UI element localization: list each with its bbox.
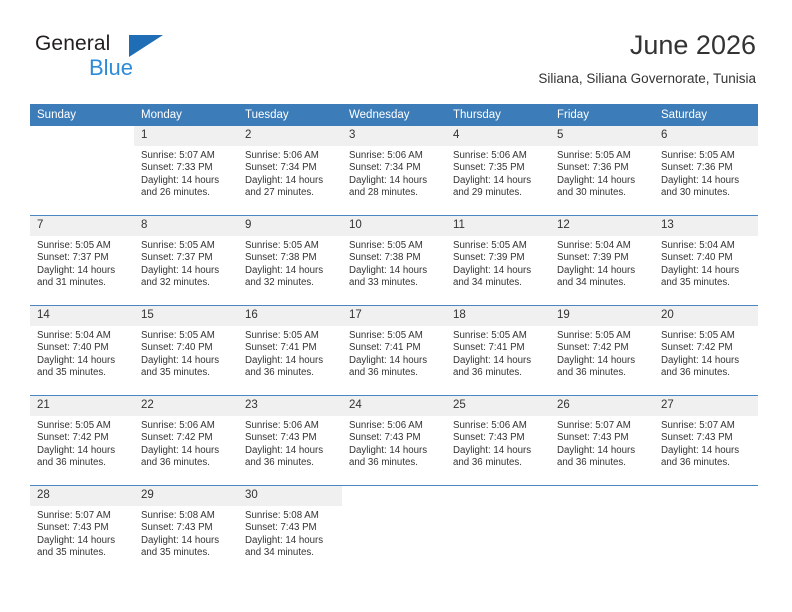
day-cell[interactable]: 20 Sunrise: 5:05 AM Sunset: 7:42 PM Dayl…	[654, 306, 758, 396]
daylight-text-line2: and 36 minutes.	[349, 367, 440, 379]
day-cell[interactable]: 8 Sunrise: 5:05 AM Sunset: 7:37 PM Dayli…	[134, 216, 238, 306]
day-cell[interactable]: 28 Sunrise: 5:07 AM Sunset: 7:43 PM Dayl…	[30, 486, 134, 576]
weekday-header-monday: Monday	[134, 104, 238, 126]
title-block: June 2026 Siliana, Siliana Governorate, …	[538, 28, 756, 89]
daylight-text-line2: and 30 minutes.	[557, 187, 648, 199]
day-cell[interactable]: 3 Sunrise: 5:06 AM Sunset: 7:34 PM Dayli…	[342, 126, 446, 216]
day-info: Sunrise: 5:04 AM Sunset: 7:39 PM Dayligh…	[550, 236, 654, 290]
daylight-text-line1: Daylight: 14 hours	[661, 265, 752, 277]
daylight-text-line2: and 29 minutes.	[453, 187, 544, 199]
calendar-table: Sunday Monday Tuesday Wednesday Thursday…	[30, 104, 758, 575]
sunrise-text: Sunrise: 5:07 AM	[557, 420, 648, 432]
sunrise-text: Sunrise: 5:05 AM	[557, 330, 648, 342]
day-info: Sunrise: 5:05 AM Sunset: 7:41 PM Dayligh…	[446, 326, 550, 380]
daylight-text-line1: Daylight: 14 hours	[141, 535, 232, 547]
day-number: 19	[550, 306, 654, 326]
weekday-header-friday: Friday	[550, 104, 654, 126]
week-row: 21 Sunrise: 5:05 AM Sunset: 7:42 PM Dayl…	[30, 396, 758, 486]
day-cell[interactable]: 27 Sunrise: 5:07 AM Sunset: 7:43 PM Dayl…	[654, 396, 758, 486]
daylight-text-line1: Daylight: 14 hours	[349, 265, 440, 277]
sunset-text: Sunset: 7:39 PM	[557, 252, 648, 264]
logo-triangle-icon	[129, 35, 163, 57]
day-info: Sunrise: 5:05 AM Sunset: 7:40 PM Dayligh…	[134, 326, 238, 380]
daylight-text-line1: Daylight: 14 hours	[245, 175, 336, 187]
day-info: Sunrise: 5:06 AM Sunset: 7:43 PM Dayligh…	[342, 416, 446, 470]
day-info: Sunrise: 5:07 AM Sunset: 7:43 PM Dayligh…	[30, 506, 134, 560]
day-info: Sunrise: 5:05 AM Sunset: 7:42 PM Dayligh…	[550, 326, 654, 380]
daylight-text-line1: Daylight: 14 hours	[37, 355, 128, 367]
day-cell[interactable]: 10 Sunrise: 5:05 AM Sunset: 7:38 PM Dayl…	[342, 216, 446, 306]
day-info: Sunrise: 5:04 AM Sunset: 7:40 PM Dayligh…	[654, 236, 758, 290]
day-info: Sunrise: 5:07 AM Sunset: 7:43 PM Dayligh…	[654, 416, 758, 470]
day-number: 5	[550, 126, 654, 146]
day-cell[interactable]: 11 Sunrise: 5:05 AM Sunset: 7:39 PM Dayl…	[446, 216, 550, 306]
daylight-text-line1: Daylight: 14 hours	[453, 445, 544, 457]
sunset-text: Sunset: 7:41 PM	[453, 342, 544, 354]
day-number: 28	[30, 486, 134, 506]
daylight-text-line2: and 36 minutes.	[245, 457, 336, 469]
day-cell[interactable]: 17 Sunrise: 5:05 AM Sunset: 7:41 PM Dayl…	[342, 306, 446, 396]
daylight-text-line2: and 36 minutes.	[37, 457, 128, 469]
weekday-header-thursday: Thursday	[446, 104, 550, 126]
day-info: Sunrise: 5:07 AM Sunset: 7:43 PM Dayligh…	[550, 416, 654, 470]
sunset-text: Sunset: 7:35 PM	[453, 162, 544, 174]
daylight-text-line2: and 36 minutes.	[349, 457, 440, 469]
week-row: 14 Sunrise: 5:04 AM Sunset: 7:40 PM Dayl…	[30, 306, 758, 396]
day-cell[interactable]: 13 Sunrise: 5:04 AM Sunset: 7:40 PM Dayl…	[654, 216, 758, 306]
daylight-text-line1: Daylight: 14 hours	[141, 445, 232, 457]
sunset-text: Sunset: 7:43 PM	[141, 522, 232, 534]
day-info: Sunrise: 5:05 AM Sunset: 7:42 PM Dayligh…	[30, 416, 134, 470]
daylight-text-line1: Daylight: 14 hours	[141, 355, 232, 367]
daylight-text-line1: Daylight: 14 hours	[349, 175, 440, 187]
sunrise-text: Sunrise: 5:05 AM	[661, 150, 752, 162]
day-info: Sunrise: 5:04 AM Sunset: 7:40 PM Dayligh…	[30, 326, 134, 380]
day-number: 4	[446, 126, 550, 146]
day-cell[interactable]: 24 Sunrise: 5:06 AM Sunset: 7:43 PM Dayl…	[342, 396, 446, 486]
sunrise-text: Sunrise: 5:05 AM	[349, 240, 440, 252]
week-row: 28 Sunrise: 5:07 AM Sunset: 7:43 PM Dayl…	[30, 486, 758, 576]
daylight-text-line2: and 33 minutes.	[349, 277, 440, 289]
day-cell[interactable]: 2 Sunrise: 5:06 AM Sunset: 7:34 PM Dayli…	[238, 126, 342, 216]
sunrise-text: Sunrise: 5:04 AM	[37, 330, 128, 342]
sunset-text: Sunset: 7:43 PM	[245, 432, 336, 444]
daylight-text-line2: and 36 minutes.	[661, 367, 752, 379]
page-header: General Blue June 2026 Siliana, Siliana …	[0, 0, 792, 100]
day-cell[interactable]: 9 Sunrise: 5:05 AM Sunset: 7:38 PM Dayli…	[238, 216, 342, 306]
day-cell[interactable]: 19 Sunrise: 5:05 AM Sunset: 7:42 PM Dayl…	[550, 306, 654, 396]
day-cell[interactable]: 6 Sunrise: 5:05 AM Sunset: 7:36 PM Dayli…	[654, 126, 758, 216]
daylight-text-line2: and 31 minutes.	[37, 277, 128, 289]
day-number: 13	[654, 216, 758, 236]
sunset-text: Sunset: 7:43 PM	[349, 432, 440, 444]
day-number: 27	[654, 396, 758, 416]
day-cell[interactable]	[342, 486, 446, 576]
sunrise-text: Sunrise: 5:05 AM	[141, 330, 232, 342]
day-info	[30, 146, 134, 150]
daylight-text-line1: Daylight: 14 hours	[557, 355, 648, 367]
week-row: 1 Sunrise: 5:07 AM Sunset: 7:33 PM Dayli…	[30, 126, 758, 216]
day-info: Sunrise: 5:05 AM Sunset: 7:36 PM Dayligh…	[654, 146, 758, 200]
sunset-text: Sunset: 7:37 PM	[141, 252, 232, 264]
day-number: 24	[342, 396, 446, 416]
sunrise-text: Sunrise: 5:07 AM	[661, 420, 752, 432]
daylight-text-line1: Daylight: 14 hours	[661, 175, 752, 187]
daylight-text-line2: and 32 minutes.	[141, 277, 232, 289]
sunset-text: Sunset: 7:41 PM	[245, 342, 336, 354]
day-number: 16	[238, 306, 342, 326]
sunset-text: Sunset: 7:33 PM	[141, 162, 232, 174]
day-info: Sunrise: 5:07 AM Sunset: 7:33 PM Dayligh…	[134, 146, 238, 200]
weekday-header-tuesday: Tuesday	[238, 104, 342, 126]
day-cell[interactable]: 16 Sunrise: 5:05 AM Sunset: 7:41 PM Dayl…	[238, 306, 342, 396]
logo-text-general: General	[35, 32, 110, 56]
day-number	[30, 126, 134, 146]
sunset-text: Sunset: 7:36 PM	[557, 162, 648, 174]
sunrise-text: Sunrise: 5:05 AM	[245, 240, 336, 252]
sunrise-text: Sunrise: 5:05 AM	[557, 150, 648, 162]
sunrise-text: Sunrise: 5:06 AM	[349, 420, 440, 432]
sunset-text: Sunset: 7:41 PM	[349, 342, 440, 354]
daylight-text-line1: Daylight: 14 hours	[141, 265, 232, 277]
day-cell[interactable]: 15 Sunrise: 5:05 AM Sunset: 7:40 PM Dayl…	[134, 306, 238, 396]
day-info: Sunrise: 5:08 AM Sunset: 7:43 PM Dayligh…	[134, 506, 238, 560]
day-info: Sunrise: 5:05 AM Sunset: 7:36 PM Dayligh…	[550, 146, 654, 200]
sunrise-text: Sunrise: 5:06 AM	[453, 420, 544, 432]
daylight-text-line1: Daylight: 14 hours	[37, 535, 128, 547]
day-cell[interactable]: 18 Sunrise: 5:05 AM Sunset: 7:41 PM Dayl…	[446, 306, 550, 396]
calendar-body: 1 Sunrise: 5:07 AM Sunset: 7:33 PM Dayli…	[30, 126, 758, 575]
day-cell[interactable]: 26 Sunrise: 5:07 AM Sunset: 7:43 PM Dayl…	[550, 396, 654, 486]
sunrise-text: Sunrise: 5:05 AM	[661, 330, 752, 342]
day-cell[interactable]: 21 Sunrise: 5:05 AM Sunset: 7:42 PM Dayl…	[30, 396, 134, 486]
day-cell[interactable]: 23 Sunrise: 5:06 AM Sunset: 7:43 PM Dayl…	[238, 396, 342, 486]
day-number: 21	[30, 396, 134, 416]
daylight-text-line2: and 36 minutes.	[557, 367, 648, 379]
sunset-text: Sunset: 7:42 PM	[37, 432, 128, 444]
sunset-text: Sunset: 7:42 PM	[557, 342, 648, 354]
day-info: Sunrise: 5:05 AM Sunset: 7:42 PM Dayligh…	[654, 326, 758, 380]
daylight-text-line2: and 36 minutes.	[661, 457, 752, 469]
sunrise-text: Sunrise: 5:05 AM	[37, 420, 128, 432]
day-info	[654, 506, 758, 510]
daylight-text-line1: Daylight: 14 hours	[453, 355, 544, 367]
day-number: 30	[238, 486, 342, 506]
location-subtitle: Siliana, Siliana Governorate, Tunisia	[538, 69, 756, 89]
day-number: 2	[238, 126, 342, 146]
daylight-text-line1: Daylight: 14 hours	[557, 265, 648, 277]
day-number: 18	[446, 306, 550, 326]
day-number: 22	[134, 396, 238, 416]
day-number	[446, 486, 550, 506]
day-cell[interactable]: 12 Sunrise: 5:04 AM Sunset: 7:39 PM Dayl…	[550, 216, 654, 306]
daylight-text-line2: and 36 minutes.	[245, 367, 336, 379]
sunset-text: Sunset: 7:38 PM	[245, 252, 336, 264]
day-cell[interactable]	[446, 486, 550, 576]
sunset-text: Sunset: 7:38 PM	[349, 252, 440, 264]
sunset-text: Sunset: 7:39 PM	[453, 252, 544, 264]
day-cell[interactable]: 5 Sunrise: 5:05 AM Sunset: 7:36 PM Dayli…	[550, 126, 654, 216]
day-cell[interactable]: 22 Sunrise: 5:06 AM Sunset: 7:42 PM Dayl…	[134, 396, 238, 486]
sunrise-text: Sunrise: 5:05 AM	[349, 330, 440, 342]
sunset-text: Sunset: 7:43 PM	[37, 522, 128, 534]
sunset-text: Sunset: 7:40 PM	[141, 342, 232, 354]
day-cell[interactable]	[654, 486, 758, 576]
daylight-text-line2: and 35 minutes.	[141, 547, 232, 559]
day-info: Sunrise: 5:06 AM Sunset: 7:34 PM Dayligh…	[342, 146, 446, 200]
daylight-text-line1: Daylight: 14 hours	[349, 445, 440, 457]
day-number: 7	[30, 216, 134, 236]
sunrise-text: Sunrise: 5:06 AM	[245, 420, 336, 432]
daylight-text-line1: Daylight: 14 hours	[245, 355, 336, 367]
page-title: June 2026	[538, 28, 756, 62]
sunset-text: Sunset: 7:34 PM	[245, 162, 336, 174]
daylight-text-line2: and 35 minutes.	[37, 547, 128, 559]
sunrise-text: Sunrise: 5:05 AM	[37, 240, 128, 252]
sunrise-text: Sunrise: 5:05 AM	[245, 330, 336, 342]
sunrise-text: Sunrise: 5:04 AM	[661, 240, 752, 252]
sunset-text: Sunset: 7:37 PM	[37, 252, 128, 264]
day-number: 20	[654, 306, 758, 326]
day-info: Sunrise: 5:05 AM Sunset: 7:38 PM Dayligh…	[342, 236, 446, 290]
daylight-text-line1: Daylight: 14 hours	[141, 175, 232, 187]
daylight-text-line2: and 32 minutes.	[245, 277, 336, 289]
day-info: Sunrise: 5:06 AM Sunset: 7:35 PM Dayligh…	[446, 146, 550, 200]
daylight-text-line1: Daylight: 14 hours	[661, 355, 752, 367]
daylight-text-line1: Daylight: 14 hours	[245, 445, 336, 457]
daylight-text-line2: and 28 minutes.	[349, 187, 440, 199]
sunrise-text: Sunrise: 5:05 AM	[453, 330, 544, 342]
daylight-text-line2: and 36 minutes.	[141, 457, 232, 469]
day-info	[342, 506, 446, 510]
day-cell[interactable]: 14 Sunrise: 5:04 AM Sunset: 7:40 PM Dayl…	[30, 306, 134, 396]
sunset-text: Sunset: 7:34 PM	[349, 162, 440, 174]
daylight-text-line2: and 30 minutes.	[661, 187, 752, 199]
day-info: Sunrise: 5:05 AM Sunset: 7:37 PM Dayligh…	[134, 236, 238, 290]
daylight-text-line2: and 35 minutes.	[37, 367, 128, 379]
day-cell[interactable]: 29 Sunrise: 5:08 AM Sunset: 7:43 PM Dayl…	[134, 486, 238, 576]
day-number: 10	[342, 216, 446, 236]
day-number	[654, 486, 758, 506]
day-number: 1	[134, 126, 238, 146]
day-info: Sunrise: 5:05 AM Sunset: 7:41 PM Dayligh…	[238, 326, 342, 380]
daylight-text-line2: and 36 minutes.	[453, 457, 544, 469]
day-info: Sunrise: 5:06 AM Sunset: 7:43 PM Dayligh…	[238, 416, 342, 470]
day-number: 8	[134, 216, 238, 236]
sunset-text: Sunset: 7:42 PM	[141, 432, 232, 444]
weekday-header-wednesday: Wednesday	[342, 104, 446, 126]
sunset-text: Sunset: 7:36 PM	[661, 162, 752, 174]
sunrise-text: Sunrise: 5:08 AM	[245, 510, 336, 522]
daylight-text-line1: Daylight: 14 hours	[245, 265, 336, 277]
day-number: 12	[550, 216, 654, 236]
day-info: Sunrise: 5:05 AM Sunset: 7:39 PM Dayligh…	[446, 236, 550, 290]
daylight-text-line2: and 35 minutes.	[141, 367, 232, 379]
day-info: Sunrise: 5:05 AM Sunset: 7:38 PM Dayligh…	[238, 236, 342, 290]
day-cell[interactable]: 4 Sunrise: 5:06 AM Sunset: 7:35 PM Dayli…	[446, 126, 550, 216]
daylight-text-line1: Daylight: 14 hours	[453, 175, 544, 187]
sunrise-text: Sunrise: 5:08 AM	[141, 510, 232, 522]
sunset-text: Sunset: 7:43 PM	[557, 432, 648, 444]
day-cell[interactable]	[550, 486, 654, 576]
sunrise-text: Sunrise: 5:06 AM	[453, 150, 544, 162]
sunset-text: Sunset: 7:43 PM	[661, 432, 752, 444]
sunrise-text: Sunrise: 5:05 AM	[453, 240, 544, 252]
day-number: 3	[342, 126, 446, 146]
daylight-text-line1: Daylight: 14 hours	[557, 445, 648, 457]
daylight-text-line2: and 26 minutes.	[141, 187, 232, 199]
day-number	[342, 486, 446, 506]
daylight-text-line2: and 34 minutes.	[557, 277, 648, 289]
daylight-text-line2: and 36 minutes.	[453, 367, 544, 379]
day-cell[interactable]: 30 Sunrise: 5:08 AM Sunset: 7:43 PM Dayl…	[238, 486, 342, 576]
daylight-text-line2: and 36 minutes.	[557, 457, 648, 469]
calendar-page: General Blue June 2026 Siliana, Siliana …	[0, 0, 792, 612]
day-info: Sunrise: 5:06 AM Sunset: 7:42 PM Dayligh…	[134, 416, 238, 470]
day-number: 6	[654, 126, 758, 146]
weekday-header-saturday: Saturday	[654, 104, 758, 126]
sunrise-text: Sunrise: 5:06 AM	[245, 150, 336, 162]
week-row: 7 Sunrise: 5:05 AM Sunset: 7:37 PM Dayli…	[30, 216, 758, 306]
sunset-text: Sunset: 7:42 PM	[661, 342, 752, 354]
daylight-text-line1: Daylight: 14 hours	[557, 175, 648, 187]
sunset-text: Sunset: 7:43 PM	[453, 432, 544, 444]
day-number: 25	[446, 396, 550, 416]
day-number: 23	[238, 396, 342, 416]
daylight-text-line2: and 34 minutes.	[245, 547, 336, 559]
sunrise-text: Sunrise: 5:06 AM	[141, 420, 232, 432]
day-number: 14	[30, 306, 134, 326]
day-cell[interactable]: 1 Sunrise: 5:07 AM Sunset: 7:33 PM Dayli…	[134, 126, 238, 216]
sunrise-text: Sunrise: 5:07 AM	[141, 150, 232, 162]
sunset-text: Sunset: 7:40 PM	[37, 342, 128, 354]
daylight-text-line1: Daylight: 14 hours	[37, 445, 128, 457]
sunrise-text: Sunrise: 5:06 AM	[349, 150, 440, 162]
weekday-header-row: Sunday Monday Tuesday Wednesday Thursday…	[30, 104, 758, 126]
sunrise-text: Sunrise: 5:07 AM	[37, 510, 128, 522]
day-info	[446, 506, 550, 510]
day-info: Sunrise: 5:06 AM Sunset: 7:43 PM Dayligh…	[446, 416, 550, 470]
daylight-text-line1: Daylight: 14 hours	[349, 355, 440, 367]
daylight-text-line2: and 27 minutes.	[245, 187, 336, 199]
daylight-text-line2: and 34 minutes.	[453, 277, 544, 289]
day-number: 15	[134, 306, 238, 326]
sunrise-text: Sunrise: 5:04 AM	[557, 240, 648, 252]
day-number: 9	[238, 216, 342, 236]
day-info: Sunrise: 5:05 AM Sunset: 7:41 PM Dayligh…	[342, 326, 446, 380]
day-cell[interactable]: 7 Sunrise: 5:05 AM Sunset: 7:37 PM Dayli…	[30, 216, 134, 306]
day-cell[interactable]	[30, 126, 134, 216]
daylight-text-line1: Daylight: 14 hours	[245, 535, 336, 547]
logo-text-blue: Blue	[89, 55, 133, 81]
day-number: 26	[550, 396, 654, 416]
sunset-text: Sunset: 7:40 PM	[661, 252, 752, 264]
daylight-text-line1: Daylight: 14 hours	[453, 265, 544, 277]
day-number: 29	[134, 486, 238, 506]
weekday-header-sunday: Sunday	[30, 104, 134, 126]
day-info	[550, 506, 654, 510]
day-info: Sunrise: 5:08 AM Sunset: 7:43 PM Dayligh…	[238, 506, 342, 560]
sunrise-text: Sunrise: 5:05 AM	[141, 240, 232, 252]
day-info: Sunrise: 5:06 AM Sunset: 7:34 PM Dayligh…	[238, 146, 342, 200]
daylight-text-line1: Daylight: 14 hours	[661, 445, 752, 457]
day-number: 17	[342, 306, 446, 326]
day-number	[550, 486, 654, 506]
daylight-text-line1: Daylight: 14 hours	[37, 265, 128, 277]
general-blue-logo: General Blue	[35, 32, 215, 84]
daylight-text-line2: and 35 minutes.	[661, 277, 752, 289]
sunset-text: Sunset: 7:43 PM	[245, 522, 336, 534]
day-info: Sunrise: 5:05 AM Sunset: 7:37 PM Dayligh…	[30, 236, 134, 290]
day-cell[interactable]: 25 Sunrise: 5:06 AM Sunset: 7:43 PM Dayl…	[446, 396, 550, 486]
day-number: 11	[446, 216, 550, 236]
